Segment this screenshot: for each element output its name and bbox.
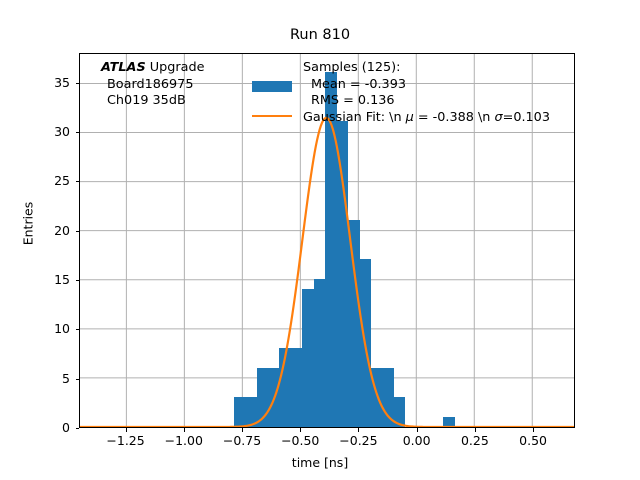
legend-swatch-histogram <box>252 81 292 92</box>
board-id-line: Board186975 <box>101 77 204 94</box>
x-tick-mark <box>126 428 127 432</box>
page-title: Run 810 <box>0 27 640 43</box>
atlas-brand: ATLAS <box>101 60 146 75</box>
y-tick-label: 35 <box>20 75 70 90</box>
histogram-bar <box>314 279 326 427</box>
y-tick-label: 0 <box>20 420 70 435</box>
histogram-bar <box>279 348 291 427</box>
x-tick-mark <box>417 428 418 432</box>
histogram-bar <box>371 368 383 427</box>
atlas-brand-line: ATLAS Upgrade <box>101 60 204 77</box>
x-tick-mark <box>300 428 301 432</box>
histogram-bar <box>359 259 371 427</box>
x-tick-mark <box>184 428 185 432</box>
x-tick-mark <box>475 428 476 432</box>
legend-samples-header: Samples (125): <box>303 60 550 77</box>
legend-text: Samples (125): Mean = -0.393 RMS = 0.136… <box>303 60 550 126</box>
legend-fit-sigma-symbol: σ <box>494 110 502 125</box>
legend-mean: Mean = -0.393 <box>303 77 550 94</box>
histogram-bar <box>291 348 303 427</box>
legend-swatch-fit <box>252 115 292 117</box>
legend-fit-mu-value: = -0.388 \n <box>414 110 495 125</box>
legend-gaussian-fit: Gaussian Fit: \n μ = -0.388 \n σ=0.103 <box>303 110 550 127</box>
legend-fit-prefix: Gaussian Fit: \n <box>303 110 406 125</box>
histogram-bar <box>336 121 348 427</box>
y-tick-label: 30 <box>20 124 70 139</box>
y-tick-mark <box>76 329 80 330</box>
histogram-bar <box>257 368 269 427</box>
y-tick-mark <box>76 428 80 429</box>
histogram-bar <box>382 368 394 427</box>
figure-canvas: Run 810 −1.25−1.00−0.75−0.50−0.250.000.2… <box>0 0 640 480</box>
y-tick-mark <box>76 132 80 133</box>
atlas-qualifier: Upgrade <box>146 60 205 75</box>
histogram-bar <box>245 397 257 427</box>
y-axis-label: Entries <box>21 174 36 274</box>
histogram-bar <box>268 368 280 427</box>
histogram-bar <box>393 397 405 427</box>
channel-line: Ch019 35dB <box>101 93 204 110</box>
histogram-bar <box>443 417 455 427</box>
histogram-bar <box>348 220 360 427</box>
y-tick-label: 10 <box>20 321 70 336</box>
legend-fit-sigma-value: =0.103 <box>503 110 550 125</box>
histogram-bar <box>234 397 246 427</box>
atlas-annotation: ATLAS Upgrade Board186975 Ch019 35dB <box>101 60 204 110</box>
y-tick-mark <box>76 83 80 84</box>
x-tick-mark <box>242 428 243 432</box>
y-tick-label: 15 <box>20 272 70 287</box>
y-tick-mark <box>76 379 80 380</box>
y-tick-mark <box>76 181 80 182</box>
y-tick-mark <box>76 280 80 281</box>
y-tick-mark <box>76 231 80 232</box>
x-tick-mark <box>358 428 359 432</box>
histogram-bar <box>302 289 314 427</box>
legend-rms: RMS = 0.136 <box>303 93 550 110</box>
legend-fit-mu-symbol: μ <box>406 110 414 125</box>
x-axis-label: time [ns] <box>0 455 640 470</box>
x-tick-mark <box>533 428 534 432</box>
x-tick-label: 0.50 <box>498 433 568 448</box>
y-tick-label: 5 <box>20 371 70 386</box>
